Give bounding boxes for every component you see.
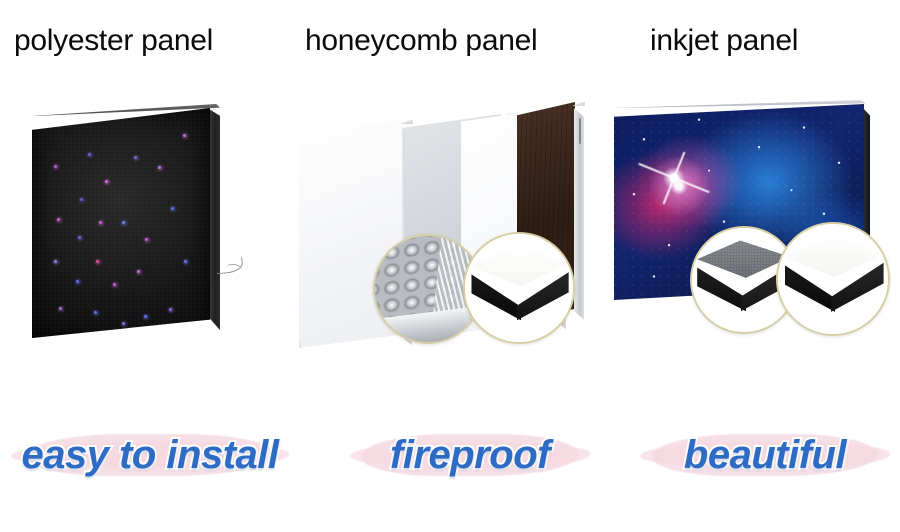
honeycomb-panel-image	[295, 94, 585, 356]
polyester-panel-image	[20, 90, 265, 360]
fiber-optic-dot	[144, 315, 147, 318]
panel-side-thickness	[209, 109, 220, 337]
fiber-optic-dot	[99, 221, 102, 224]
panel-slot	[579, 118, 581, 144]
fiber-optic-dot	[78, 236, 81, 239]
fiber-optic-dot	[59, 307, 62, 310]
caption-easy-to-install: easy to install	[0, 420, 300, 490]
fiber-optic-dot	[88, 153, 91, 156]
caption-beautiful: beautiful	[630, 420, 900, 490]
fiber-optic-dot	[122, 322, 125, 325]
fiber-optic-dot	[158, 166, 161, 169]
inset-white-face-corner	[776, 222, 890, 336]
showcase-canvas: polyester panel honeycomb panel inkjet p…	[0, 0, 900, 532]
product-polyester-panel	[0, 80, 290, 350]
fiber-optic-dot	[54, 165, 57, 168]
product-honeycomb-panel	[290, 80, 590, 350]
heading-honeycomb-panel: honeycomb panel	[305, 24, 537, 58]
caption-fireproof: fireproof	[340, 420, 600, 490]
inkjet-panel-image	[608, 96, 893, 346]
fiber-optic-dot	[57, 218, 60, 221]
fiber-optic-dot	[80, 198, 83, 201]
fiber-optic-dot	[105, 180, 108, 183]
fiber-optic-dot	[94, 311, 97, 314]
fiber-optic-dot	[184, 260, 187, 263]
heading-inkjet-panel: inkjet panel	[650, 24, 798, 58]
caption-label: fireproof	[340, 420, 600, 490]
fiber-optic-dot	[76, 280, 79, 283]
fiber-optic-dot	[183, 134, 186, 137]
fiber-optic-dot	[137, 270, 140, 273]
heading-polyester-panel: polyester panel	[14, 24, 213, 58]
fiber-optic-dot	[169, 308, 172, 311]
fiber-optic-dot	[145, 238, 148, 241]
product-inkjet-panel	[600, 80, 900, 350]
inset-panel-edge-cross-section	[463, 232, 575, 344]
caption-label: beautiful	[630, 420, 900, 490]
fiber-optic-dot	[134, 156, 137, 159]
caption-label: easy to install	[0, 420, 300, 490]
fiber-optic-dot	[54, 260, 57, 263]
fiber-optic-dot	[171, 207, 174, 210]
panel-face	[32, 108, 210, 338]
fiber-optic-dot	[96, 260, 99, 263]
fiber-optic-dot	[122, 221, 125, 224]
fiber-optic-dot	[113, 283, 116, 286]
bright-star-core	[663, 167, 685, 189]
